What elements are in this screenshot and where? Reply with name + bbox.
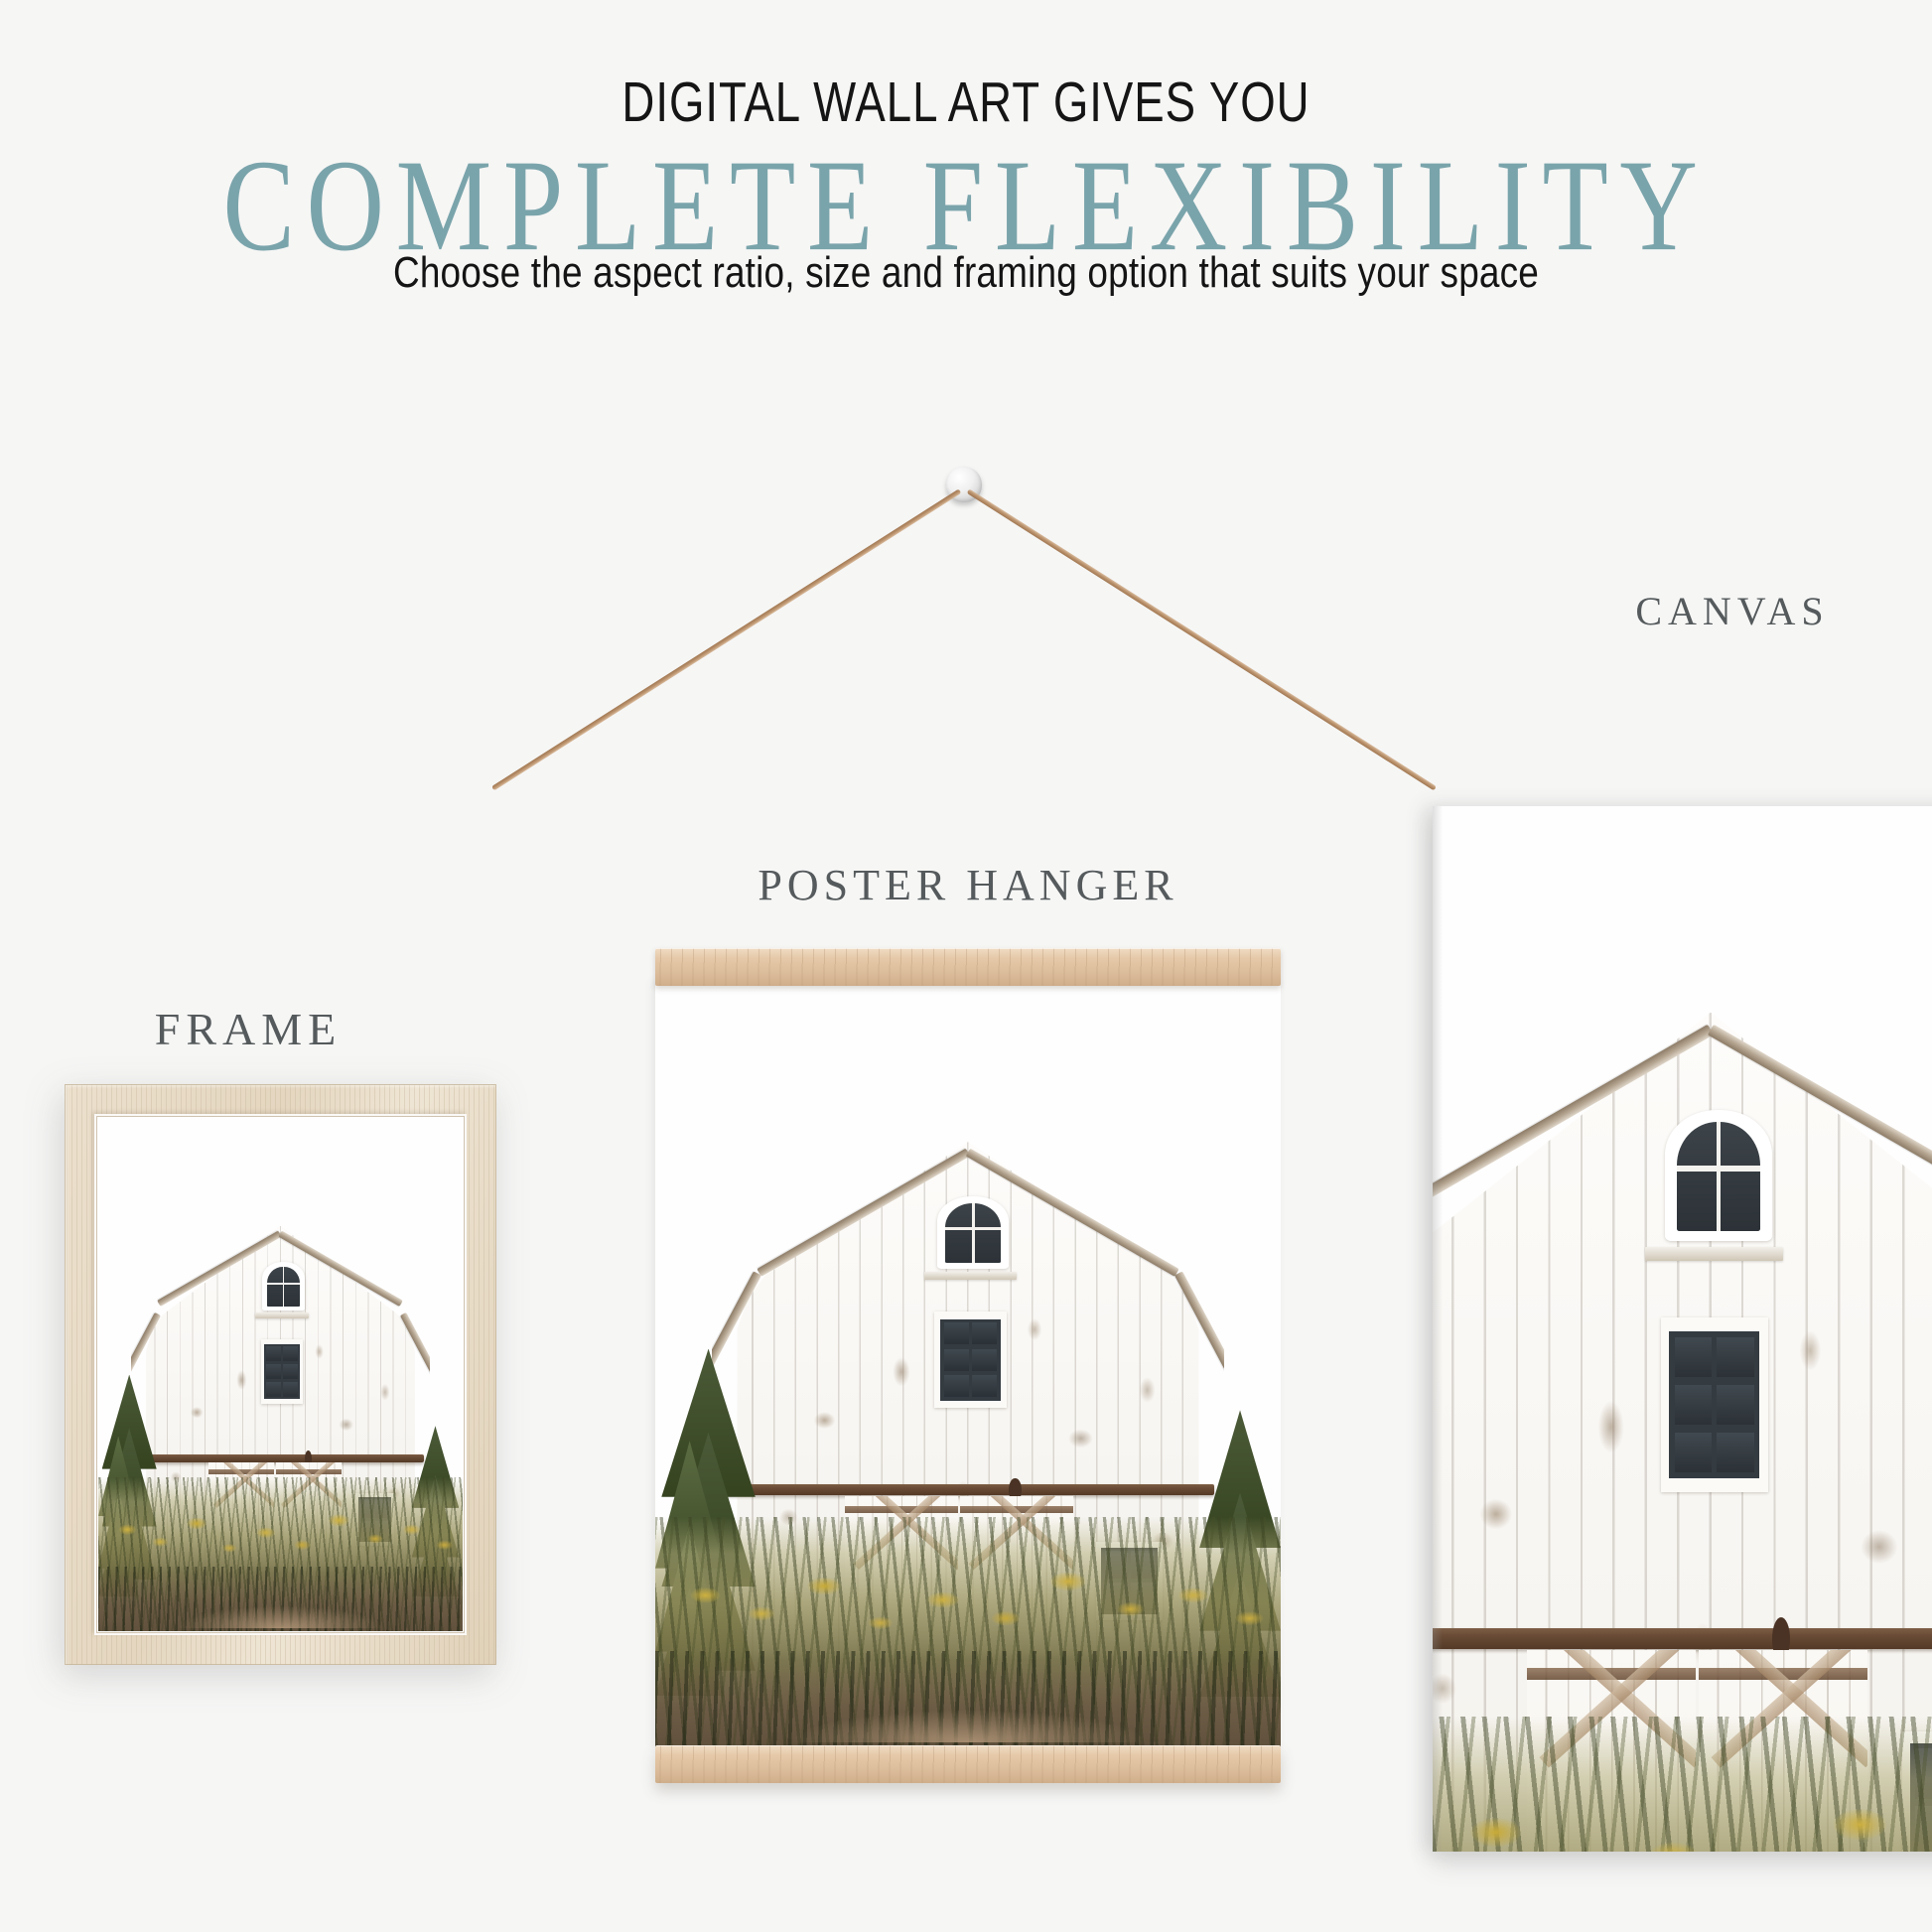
arched-window-glass (1677, 1122, 1760, 1230)
page-subtitle: Choose the aspect ratio, size and framin… (155, 248, 1778, 298)
meadow-wildflowers (98, 1477, 463, 1631)
barn-artwork-small (98, 1118, 463, 1631)
hanger-bottom-wood-bar (655, 1745, 1281, 1783)
sliding-door-rail (1433, 1628, 1932, 1649)
arched-window-glass (267, 1267, 300, 1308)
hanger-print-paper (655, 981, 1281, 1747)
poster-hanger-product[interactable] (655, 467, 1281, 1792)
sliding-door-rail (722, 1484, 1214, 1496)
meadow-path (793, 1711, 1144, 1742)
six-pane-window-glass (264, 1344, 299, 1399)
arched-window-glass (945, 1203, 1001, 1264)
frame-mat-bevel (94, 1114, 467, 1635)
arched-attic-window (262, 1262, 304, 1311)
six-pane-window (1661, 1317, 1768, 1492)
product-label-canvas: CANVAS (1569, 588, 1896, 634)
canvas-wrapped-edge (1433, 806, 1443, 1852)
six-pane-window-glass (1669, 1331, 1759, 1478)
attic-window-sill (1645, 1247, 1783, 1261)
frame-artwork (98, 1118, 463, 1631)
promo-graphic: DIGITAL WALL ART GIVES YOU COMPLETE FLEX… (0, 0, 1932, 1932)
hanger-top-wood-bar (655, 948, 1281, 986)
page-eyebrow: DIGITAL WALL ART GIVES YOU (194, 69, 1739, 135)
meadow-path (179, 1606, 383, 1628)
sliding-door-rail (137, 1454, 424, 1462)
product-label-frame: FRAME (0, 1003, 496, 1055)
six-pane-window (934, 1311, 1006, 1409)
attic-window-sill (924, 1272, 1017, 1280)
meadow-wildflowers (1433, 1717, 1932, 1852)
framed-print-product[interactable] (65, 1084, 496, 1665)
meadow-wildflowers (655, 1517, 1281, 1747)
attic-window-sill (255, 1312, 309, 1317)
six-pane-window (261, 1339, 303, 1404)
arched-attic-window (1665, 1110, 1772, 1241)
arched-attic-window (937, 1196, 1009, 1269)
hanging-cord-left (491, 488, 961, 790)
barn-artwork-medium (655, 981, 1281, 1747)
hanging-cord-right (967, 488, 1437, 790)
canvas-print-product[interactable] (1433, 806, 1932, 1852)
six-pane-window-glass (940, 1319, 1001, 1401)
barn-artwork-large (1433, 806, 1932, 1852)
